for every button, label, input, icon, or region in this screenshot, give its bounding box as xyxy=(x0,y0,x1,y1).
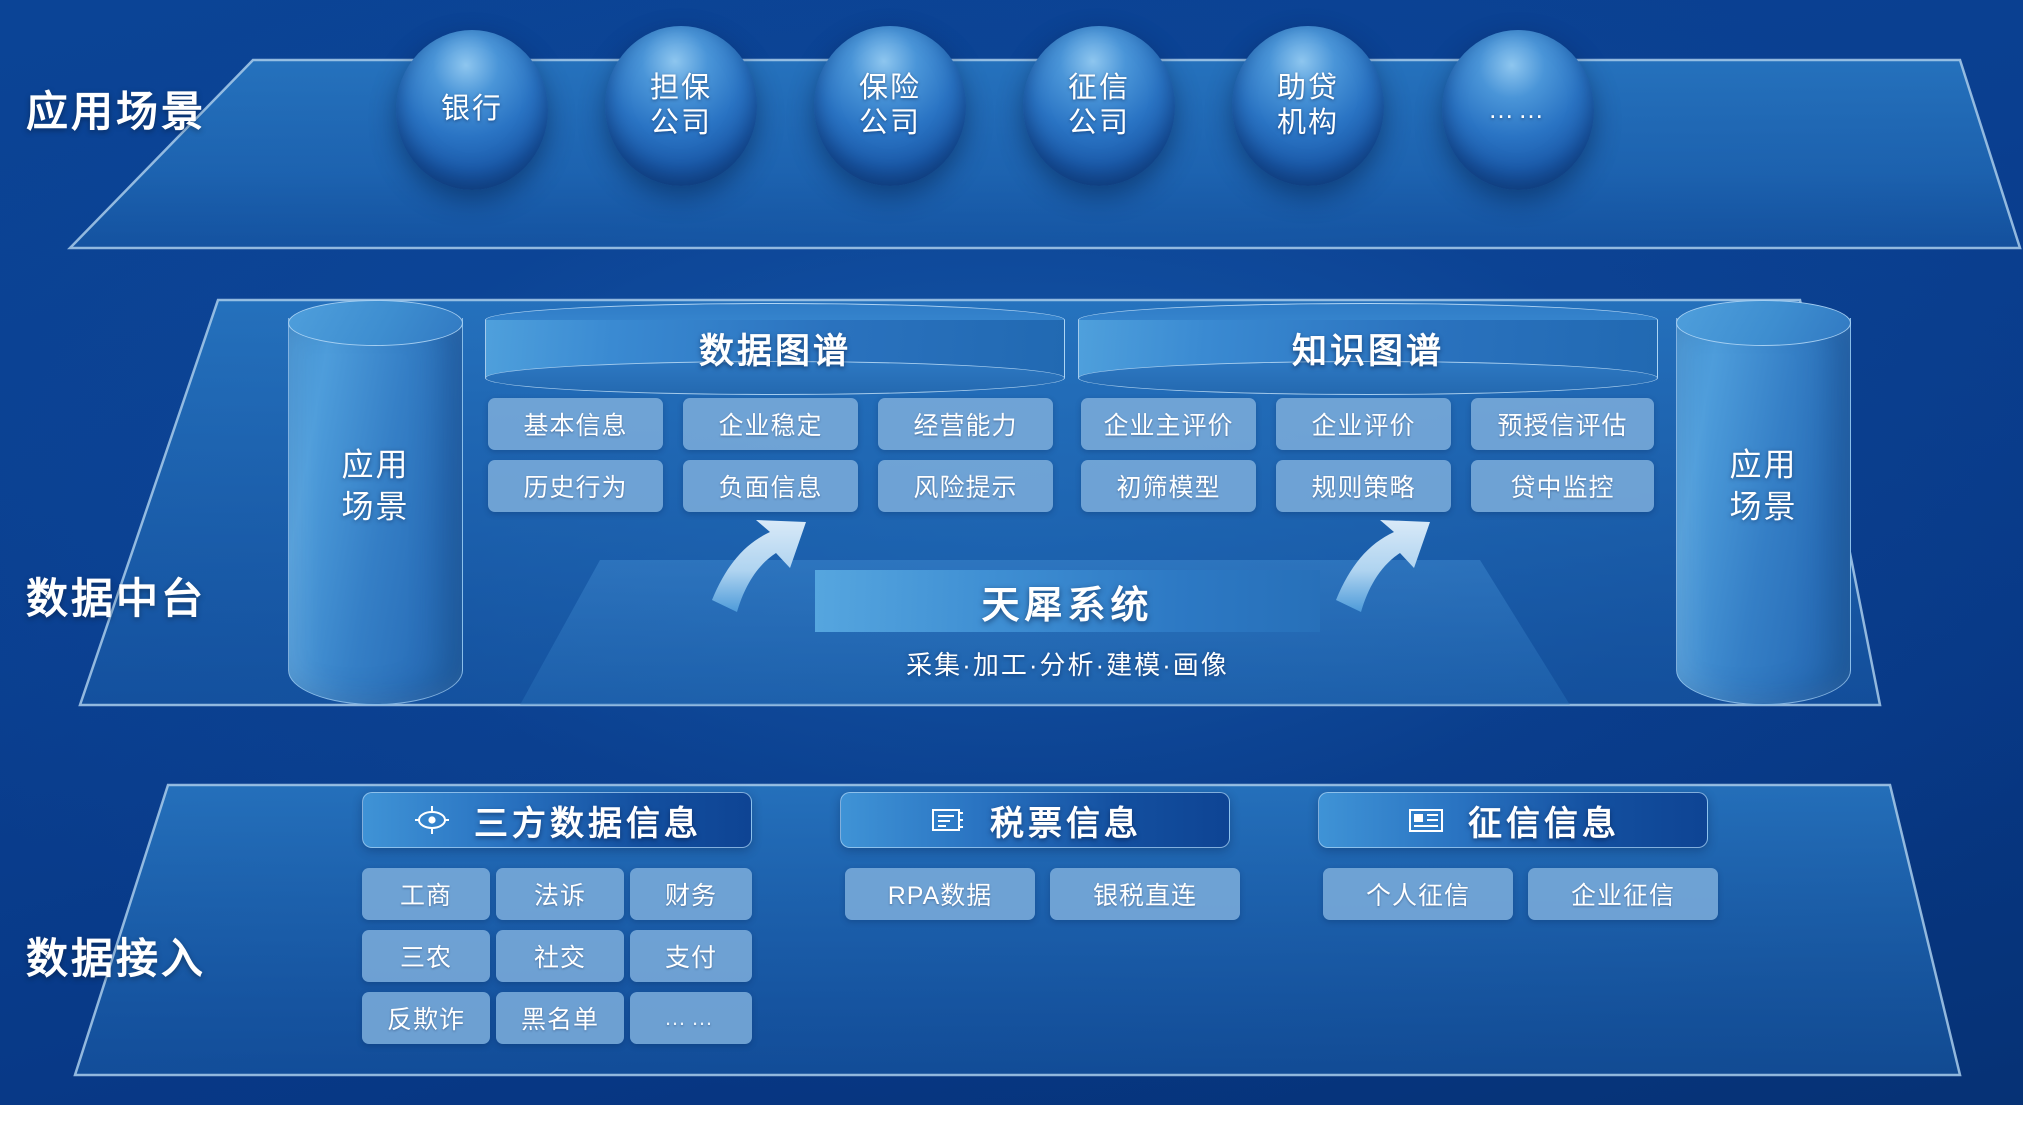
invoice-tax-tag-0[interactable]: RPA数据 xyxy=(845,868,1035,920)
core-system-banner[interactable]: 天犀系统 xyxy=(815,570,1320,632)
core-system-subtitle: 采集·加工·分析·建模·画像 xyxy=(815,645,1320,682)
knowledge-graph-title: 知识图谱 xyxy=(1078,323,1658,374)
tier-label-middle-platform: 数据中台 xyxy=(26,565,206,626)
group-header-credit-report[interactable]: 征信信息 xyxy=(1318,792,1708,848)
sphere-label: 担保公司 xyxy=(650,71,712,142)
third-party-tag-4[interactable]: 社交 xyxy=(496,930,624,982)
group-title: 三方数据信息 xyxy=(474,796,702,845)
scenario-sphere-loan-facilitator[interactable]: 助贷机构 xyxy=(1232,26,1384,186)
third-party-tag-5[interactable]: 支付 xyxy=(630,930,752,982)
data-graph-tag-0[interactable]: 基本信息 xyxy=(488,398,663,450)
cylinder-label: 应用 场景 xyxy=(1676,445,1851,528)
data-graph-cylinder[interactable]: 数据图谱 xyxy=(485,303,1065,395)
scenario-sphere-insurance[interactable]: 保险公司 xyxy=(814,26,966,186)
crosshair-target-icon xyxy=(412,803,452,837)
knowledge-graph-tag-5[interactable]: 贷中监控 xyxy=(1471,460,1654,512)
credit-report-tag-1[interactable]: 企业征信 xyxy=(1528,868,1718,920)
credit-report-tag-0[interactable]: 个人征信 xyxy=(1323,868,1513,920)
scenario-sphere-credit-agency[interactable]: 征信公司 xyxy=(1023,26,1175,186)
sphere-label: 征信公司 xyxy=(1068,71,1130,142)
third-party-tag-6[interactable]: 反欺诈 xyxy=(362,992,490,1044)
cylinder-label: 应用 场景 xyxy=(288,445,463,528)
knowledge-graph-tag-3[interactable]: 初筛模型 xyxy=(1081,460,1256,512)
cylinder-top-cap xyxy=(288,300,463,346)
cylinder-top-cap xyxy=(1676,300,1851,346)
group-header-third-party[interactable]: 三方数据信息 xyxy=(362,792,752,848)
data-graph-title: 数据图谱 xyxy=(485,323,1065,374)
group-title: 税票信息 xyxy=(990,796,1142,845)
diagram-canvas: 应用场景 数据中台 数据接入 银行 担保公司 保险公司 征信公司 助贷机构 ……… xyxy=(0,0,2023,1105)
tier-label-data-access: 数据接入 xyxy=(26,925,206,986)
third-party-tag-8[interactable]: …… xyxy=(630,992,752,1044)
knowledge-graph-cylinder[interactable]: 知识图谱 xyxy=(1078,303,1658,395)
group-header-invoice-tax[interactable]: 税票信息 xyxy=(840,792,1230,848)
knowledge-graph-tag-0[interactable]: 企业主评价 xyxy=(1081,398,1256,450)
data-graph-tag-2[interactable]: 经营能力 xyxy=(878,398,1053,450)
invoice-icon xyxy=(928,803,968,837)
side-cylinder-left-application-scenario[interactable]: 应用 场景 xyxy=(288,300,463,705)
knowledge-graph-tag-2[interactable]: 预授信评估 xyxy=(1471,398,1654,450)
knowledge-graph-tag-1[interactable]: 企业评价 xyxy=(1276,398,1451,450)
sphere-label: 保险公司 xyxy=(859,71,921,142)
data-graph-tag-1[interactable]: 企业稳定 xyxy=(683,398,858,450)
side-cylinder-right-application-scenario[interactable]: 应用 场景 xyxy=(1676,300,1851,705)
data-graph-tag-3[interactable]: 历史行为 xyxy=(488,460,663,512)
scenario-sphere-bank[interactable]: 银行 xyxy=(396,30,548,190)
sphere-label: 助贷机构 xyxy=(1277,71,1339,142)
data-graph-tag-4[interactable]: 负面信息 xyxy=(683,460,858,512)
architecture-diagram: 应用场景 数据中台 数据接入 银行 担保公司 保险公司 征信公司 助贷机构 ……… xyxy=(0,0,2023,1130)
third-party-tag-3[interactable]: 三农 xyxy=(362,930,490,982)
tier-label-application: 应用场景 xyxy=(26,78,206,139)
scenario-sphere-guarantee[interactable]: 担保公司 xyxy=(605,26,757,186)
data-graph-tag-5[interactable]: 风险提示 xyxy=(878,460,1053,512)
core-system-title: 天犀系统 xyxy=(981,574,1153,629)
knowledge-graph-tag-4[interactable]: 规则策略 xyxy=(1276,460,1451,512)
scenario-sphere-more[interactable]: …… xyxy=(1442,30,1594,190)
third-party-tag-2[interactable]: 财务 xyxy=(630,868,752,920)
third-party-tag-7[interactable]: 黑名单 xyxy=(496,992,624,1044)
third-party-tag-0[interactable]: 工商 xyxy=(362,868,490,920)
third-party-tag-1[interactable]: 法诉 xyxy=(496,868,624,920)
sphere-label: 银行 xyxy=(441,92,503,127)
group-title: 征信信息 xyxy=(1468,796,1620,845)
invoice-tax-tag-1[interactable]: 银税直连 xyxy=(1050,868,1240,920)
sphere-label: …… xyxy=(1488,94,1548,126)
id-card-icon xyxy=(1406,803,1446,837)
